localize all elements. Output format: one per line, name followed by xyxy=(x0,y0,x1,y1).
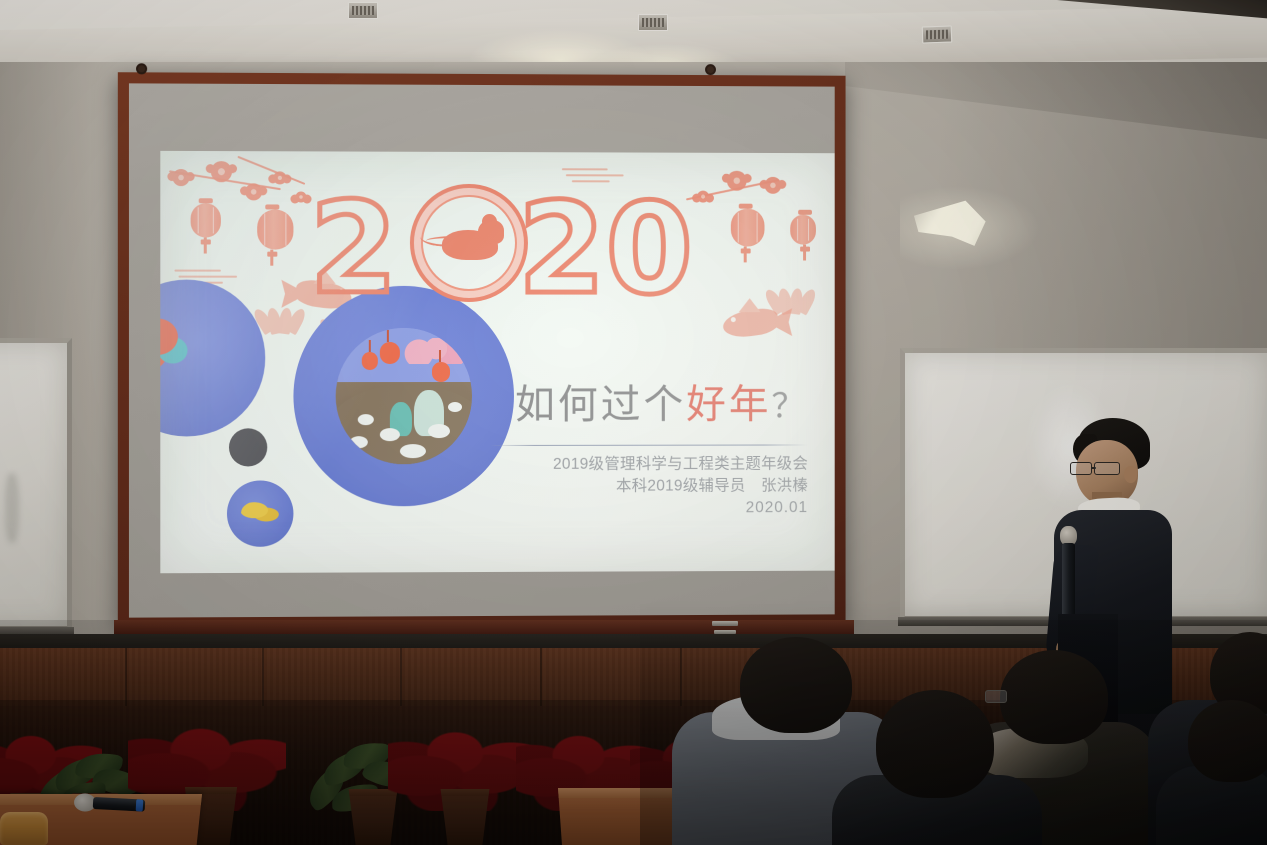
illustration-lanterns-people xyxy=(336,328,472,464)
ceiling-spotlight-icon xyxy=(348,2,378,19)
plum-blossom-icon xyxy=(765,177,782,194)
decorative-circle-gold xyxy=(227,480,293,546)
subtitle-line-2: 本科2019级辅导员 张洪榛 xyxy=(480,475,808,498)
rat-icon xyxy=(432,218,516,268)
audience-head xyxy=(1188,700,1267,782)
title-red-part: 好年 xyxy=(686,382,771,428)
title-question-mark: ？ xyxy=(771,387,808,427)
decorative-circle-gray xyxy=(229,428,267,466)
whiteboard-left xyxy=(0,338,72,631)
screen-latch-icon xyxy=(712,621,738,626)
gold-motif xyxy=(241,501,279,525)
projection-screen-frame: 2 2 0 如何过个好年？ xyxy=(118,72,846,629)
screen-bottom-rail xyxy=(114,620,854,635)
lecture-hall-scene: 2 2 0 如何过个好年？ xyxy=(0,0,1267,845)
projection-screen-surface: 2 2 0 如何过个好年？ xyxy=(129,83,835,617)
lantern-icon xyxy=(257,209,293,249)
eyeglasses-icon xyxy=(985,690,1007,703)
year-digit: 2 xyxy=(310,190,398,308)
plum-blossom-icon xyxy=(172,169,189,186)
lantern-icon xyxy=(790,215,816,245)
audience-head xyxy=(876,690,994,798)
ceiling-spotlight-icon xyxy=(922,25,953,43)
presentation-slide: 2 2 0 如何过个好年？ xyxy=(160,151,834,573)
title-gray-part: 如何过个 xyxy=(515,382,686,428)
wireless-microphone-icon xyxy=(74,795,153,813)
year-digit: 2 xyxy=(518,190,605,308)
eyeglasses-icon xyxy=(1070,462,1126,475)
decorative-circle-papercut xyxy=(160,280,265,437)
year-graphic-2020: 2 2 0 xyxy=(310,190,739,311)
plum-blossom-icon xyxy=(245,183,262,200)
title-divider xyxy=(490,445,808,447)
subtitle-line-1: 2019级管理科学与工程类主题年级会 xyxy=(480,454,808,477)
audience-head xyxy=(1000,650,1108,744)
lantern-icon xyxy=(191,203,221,237)
page-title: 如何过个好年？ xyxy=(480,384,808,427)
screen-hanger-icon xyxy=(705,64,716,75)
slide-title-block: 如何过个好年？ 2019级管理科学与工程类主题年级会 本科2019级辅导员 张洪… xyxy=(480,384,808,520)
plum-blossom-icon xyxy=(727,171,747,191)
ceiling-spotlight-icon xyxy=(638,14,668,31)
audience-head xyxy=(740,637,852,733)
screen-hanger-icon xyxy=(136,63,147,74)
plum-blossom-icon xyxy=(273,171,286,184)
chair-back xyxy=(0,812,48,845)
subtitle-line-3: 2020.01 xyxy=(480,497,808,520)
plum-blossom-icon xyxy=(295,191,306,202)
slide-subtitle: 2019级管理科学与工程类主题年级会 本科2019级辅导员 张洪榛 2020.0… xyxy=(480,454,808,521)
papercut-figure xyxy=(160,316,192,368)
plum-blossom-icon xyxy=(211,161,232,182)
blossom-tree xyxy=(404,338,466,364)
lotus-icon xyxy=(257,304,305,334)
whiteboard-smudge xyxy=(5,473,19,543)
year-digit: 0 xyxy=(606,190,693,308)
zodiac-coin xyxy=(410,184,528,302)
lotus-icon xyxy=(768,284,815,314)
